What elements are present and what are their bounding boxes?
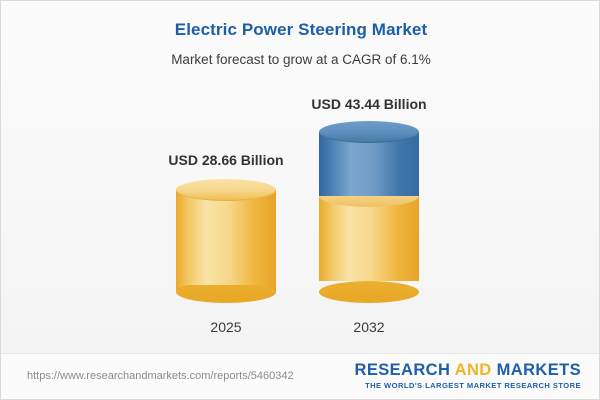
bar-2032-bottom-ellipse (319, 281, 419, 303)
brand-word-and: AND (455, 361, 492, 379)
brand-word-markets: MARKETS (497, 361, 581, 379)
bar-value-label-2025: USD 28.66 Billion (116, 152, 336, 168)
bar-2032-top-ellipse (319, 121, 419, 143)
brand-tagline: THE WORLD'S LARGEST MARKET RESEARCH STOR… (355, 381, 582, 390)
chart-title: Electric Power Steering Market (1, 20, 600, 40)
bar-category-label-2025: 2025 (176, 319, 276, 335)
brand-logo-wordmark: RESEARCH AND MARKETS (355, 361, 582, 379)
bar-cylinder-2032 (319, 121, 419, 303)
bar-2025-top-ellipse (176, 179, 276, 201)
bar-value-label-2032: USD 43.44 Billion (259, 96, 479, 112)
brand-logo[interactable]: RESEARCH AND MARKETS THE WORLD'S LARGEST… (355, 361, 582, 390)
bar-cylinder-2025 (176, 179, 276, 303)
bar-2025-body-overlay (176, 190, 276, 285)
chart-subtitle: Market forecast to grow at a CAGR of 6.1… (1, 52, 600, 67)
bar-category-label-2032: 2032 (319, 319, 419, 335)
footer: https://www.researchandmarkets.com/repor… (1, 353, 599, 400)
report-url[interactable]: https://www.researchandmarkets.com/repor… (27, 370, 294, 382)
bar-2032-base-body-overlay (319, 196, 419, 274)
chart-card: Electric Power Steering Market Market fo… (0, 0, 600, 400)
brand-word-research: RESEARCH (355, 361, 451, 379)
chart-plot-area: Electric Power Steering Market Market fo… (1, 1, 600, 353)
